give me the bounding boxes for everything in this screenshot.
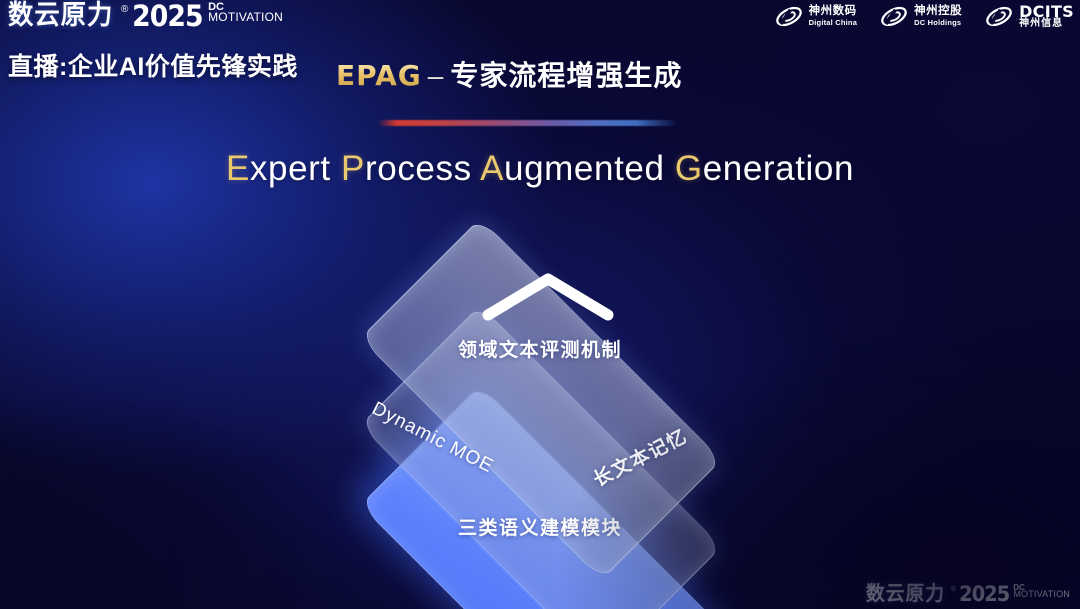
chevron-up-icon <box>482 270 614 322</box>
slide-subtitle-english: Expert Process Augmented Generation <box>0 149 1080 189</box>
slide-acronym: EPAG <box>336 59 422 92</box>
brand-year: 2025 <box>959 584 1009 605</box>
partner-name-block: 神州控股 DC Holdings <box>914 6 962 26</box>
subtitle-rest-expert: xpert <box>250 149 331 188</box>
swoosh-logo-icon <box>774 3 804 30</box>
partner-name-en: Digital China <box>809 19 857 27</box>
live-banner-text: 直播:企业AI价值先锋实践 <box>8 47 298 83</box>
brand-name-cn: 数云原力 <box>8 2 113 29</box>
swoosh-logo-icon <box>984 3 1014 30</box>
brand-registered-mark: ® <box>121 4 128 15</box>
subtitle-cap-e: E <box>226 149 250 188</box>
diagram-label-top: 领域文本评测机制 <box>300 335 780 362</box>
slide-dash: – <box>428 60 445 91</box>
subtitle-rest-generation: eneration <box>703 149 854 188</box>
subtitle-cap-g: G <box>675 149 703 188</box>
brand-registered-mark: ® <box>951 586 956 593</box>
partner-name-cn: 神州数码 <box>809 6 857 18</box>
subtitle-rest-process: rocess <box>365 149 472 188</box>
gradient-divider <box>378 120 678 126</box>
partner-dc-holdings: 神州控股 DC Holdings <box>879 3 962 30</box>
event-logo-top-left: 数云原力 ® 2025 DC MOTIVATION <box>8 2 283 31</box>
slide-heading: EPAG–专家流程增强生成 <box>336 54 682 94</box>
slide-canvas: 数云原力 ® 2025 DC MOTIVATION 直播:企业AI价值先锋实践 … <box>0 0 1080 609</box>
diagram-label-bottom: 三类语义建模模块 <box>300 513 780 540</box>
partner-name-en: DC Holdings <box>914 19 962 27</box>
brand-dc-motivation: DC MOTIVATION <box>208 2 283 23</box>
partner-name-cn: 神州控股 <box>914 6 962 18</box>
swoosh-logo-icon <box>879 3 909 30</box>
subtitle-rest-augmented: ugmented <box>504 149 664 188</box>
event-logo-bottom-right: 数云原力 ® 2025 DC MOTIVATION <box>866 584 1070 605</box>
brand-name-cn: 数云原力 <box>866 584 945 604</box>
slide-title-cn: 专家流程增强生成 <box>450 60 682 91</box>
subtitle-cap-a: A <box>480 149 504 188</box>
brand-motivation-text: MOTIVATION <box>208 11 283 23</box>
partner-name-block: 神州数码 Digital China <box>809 6 857 26</box>
brand-motivation-text: MOTIVATION <box>1013 590 1070 599</box>
subtitle-cap-p: P <box>341 149 365 188</box>
brand-year: 2025 <box>132 2 203 31</box>
partner-digital-china: 神州数码 Digital China <box>774 3 857 30</box>
brand-dc-motivation: DC MOTIVATION <box>1013 584 1070 599</box>
partner-name-block: DCITS 神州信息 <box>1019 4 1074 30</box>
partner-dcits: DCITS 神州信息 <box>984 3 1074 30</box>
layered-architecture-diagram: 领域文本评测机制 Dynamic MOE 长文本记忆 三类语义建模模块 <box>300 222 780 592</box>
partner-logo-bar: 神州数码 Digital China 神州控股 DC Holdings <box>774 3 1074 30</box>
